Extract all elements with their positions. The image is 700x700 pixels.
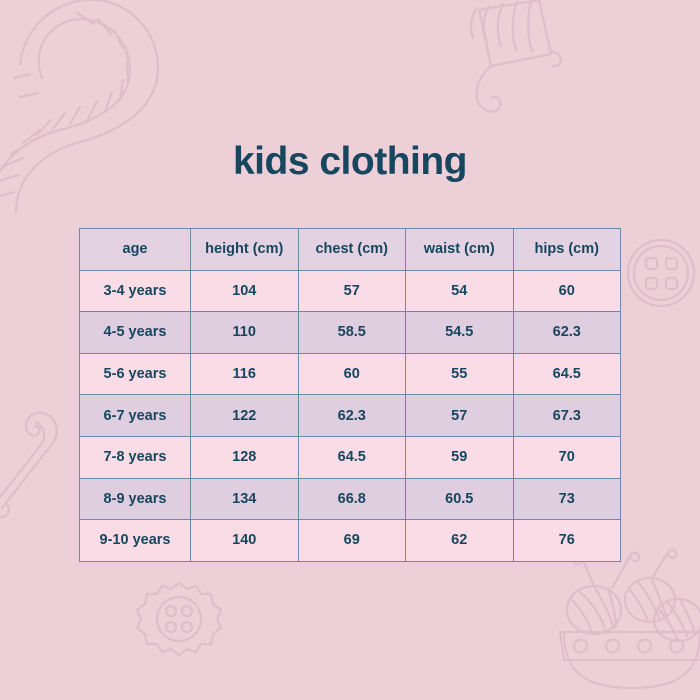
thread-spool-icon bbox=[455, 0, 585, 124]
cell-chest: 60 bbox=[298, 353, 406, 395]
cell-waist: 62 bbox=[406, 520, 514, 562]
column-header-chest: chest (cm) bbox=[298, 229, 406, 271]
page-title: kids clothing bbox=[0, 141, 700, 184]
table-row: 9-10 years 140 69 62 76 bbox=[80, 520, 621, 562]
column-header-age: age bbox=[80, 229, 191, 271]
button-icon bbox=[624, 236, 698, 310]
cell-waist: 59 bbox=[406, 436, 514, 478]
cell-waist: 60.5 bbox=[406, 478, 514, 520]
column-header-waist: waist (cm) bbox=[406, 229, 514, 271]
cell-chest: 62.3 bbox=[298, 395, 406, 437]
measuring-tape-icon bbox=[0, 0, 210, 220]
cell-height: 128 bbox=[191, 436, 299, 478]
table-row: 3-4 years 104 57 54 60 bbox=[80, 270, 621, 312]
size-chart-canvas: kids clothing age height (cm) chest (cm)… bbox=[0, 0, 700, 700]
cell-height: 134 bbox=[191, 478, 299, 520]
cell-chest: 57 bbox=[298, 270, 406, 312]
table-row: 5-6 years 116 60 55 64.5 bbox=[80, 353, 621, 395]
cell-hips: 70 bbox=[513, 436, 621, 478]
table-body: 3-4 years 104 57 54 60 4-5 years 110 58.… bbox=[80, 270, 621, 561]
cell-hips: 73 bbox=[513, 478, 621, 520]
cell-age: 5-6 years bbox=[80, 353, 191, 395]
table-row: 4-5 years 110 58.5 54.5 62.3 bbox=[80, 312, 621, 354]
cell-age: 7-8 years bbox=[80, 436, 191, 478]
cell-chest: 58.5 bbox=[298, 312, 406, 354]
cell-waist: 55 bbox=[406, 353, 514, 395]
safety-pin-icon bbox=[0, 402, 78, 527]
flower-button-icon bbox=[138, 580, 220, 662]
cell-chest: 64.5 bbox=[298, 436, 406, 478]
yarn-basket-icon bbox=[558, 548, 700, 700]
cell-height: 122 bbox=[191, 395, 299, 437]
table-row: 8-9 years 134 66.8 60.5 73 bbox=[80, 478, 621, 520]
cell-height: 116 bbox=[191, 353, 299, 395]
cell-age: 4-5 years bbox=[80, 312, 191, 354]
table-row: 6-7 years 122 62.3 57 67.3 bbox=[80, 395, 621, 437]
cell-chest: 66.8 bbox=[298, 478, 406, 520]
table-header-row: age height (cm) chest (cm) waist (cm) hi… bbox=[80, 229, 621, 271]
table-row: 7-8 years 128 64.5 59 70 bbox=[80, 436, 621, 478]
cell-height: 104 bbox=[191, 270, 299, 312]
size-chart-table: age height (cm) chest (cm) waist (cm) hi… bbox=[79, 228, 621, 562]
cell-waist: 54.5 bbox=[406, 312, 514, 354]
table-header: age height (cm) chest (cm) waist (cm) hi… bbox=[80, 229, 621, 271]
cell-hips: 67.3 bbox=[513, 395, 621, 437]
column-header-hips: hips (cm) bbox=[513, 229, 621, 271]
cell-waist: 54 bbox=[406, 270, 514, 312]
cell-height: 110 bbox=[191, 312, 299, 354]
cell-hips: 64.5 bbox=[513, 353, 621, 395]
cell-age: 6-7 years bbox=[80, 395, 191, 437]
cell-hips: 62.3 bbox=[513, 312, 621, 354]
size-chart-table-wrapper: age height (cm) chest (cm) waist (cm) hi… bbox=[79, 228, 620, 553]
cell-height: 140 bbox=[191, 520, 299, 562]
column-header-height: height (cm) bbox=[191, 229, 299, 271]
cell-hips: 60 bbox=[513, 270, 621, 312]
cell-waist: 57 bbox=[406, 395, 514, 437]
cell-chest: 69 bbox=[298, 520, 406, 562]
cell-age: 3-4 years bbox=[80, 270, 191, 312]
cell-age: 8-9 years bbox=[80, 478, 191, 520]
cell-hips: 76 bbox=[513, 520, 621, 562]
cell-age: 9-10 years bbox=[80, 520, 191, 562]
